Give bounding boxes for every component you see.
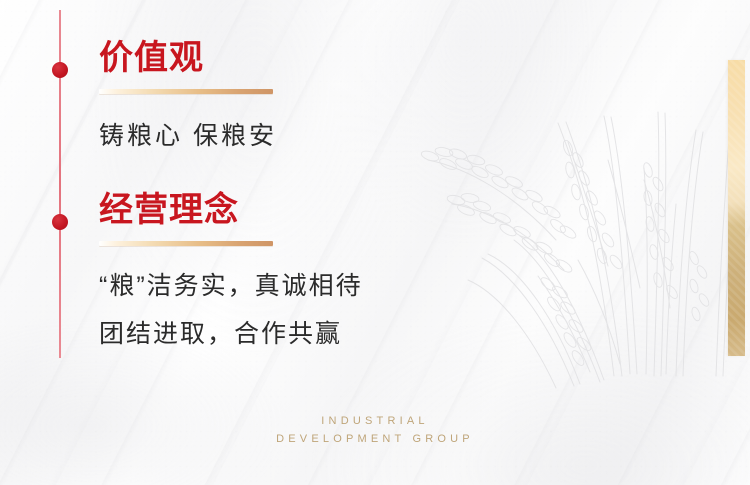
- section-values-body: 铸粮心 保粮安: [99, 112, 277, 160]
- slide-canvas: 价值观 铸粮心 保粮安 经营理念 “粮”洁务实，真诚相待 团结进取，合作共赢 I…: [0, 0, 750, 485]
- gold-divider-2: [99, 241, 273, 246]
- gold-divider-1: [99, 89, 273, 94]
- section-values-line-1: 铸粮心 保粮安: [99, 112, 277, 160]
- rail-marker-dot-2: [52, 214, 68, 230]
- section-values-heading: 价值观: [99, 36, 277, 80]
- gold-accent-bar: [728, 60, 745, 356]
- section-values: 价值观 铸粮心 保粮安: [99, 36, 277, 160]
- rail-marker-dot-1: [52, 62, 68, 78]
- footer-line-2: DEVELOPMENT GROUP: [0, 430, 750, 448]
- section-philosophy-line-2: 团结进取，合作共赢: [99, 310, 363, 358]
- footer-wordmark: INDUSTRIAL DEVELOPMENT GROUP: [0, 412, 750, 448]
- rice-stalks-illustration: [408, 108, 738, 393]
- section-philosophy-heading: 经营理念: [99, 188, 363, 232]
- section-philosophy-line-1: “粮”洁务实，真诚相待: [99, 262, 363, 310]
- footer-line-1: INDUSTRIAL: [0, 412, 750, 430]
- section-philosophy-body: “粮”洁务实，真诚相待 团结进取，合作共赢: [99, 262, 363, 358]
- section-philosophy: 经营理念 “粮”洁务实，真诚相待 团结进取，合作共赢: [99, 188, 363, 358]
